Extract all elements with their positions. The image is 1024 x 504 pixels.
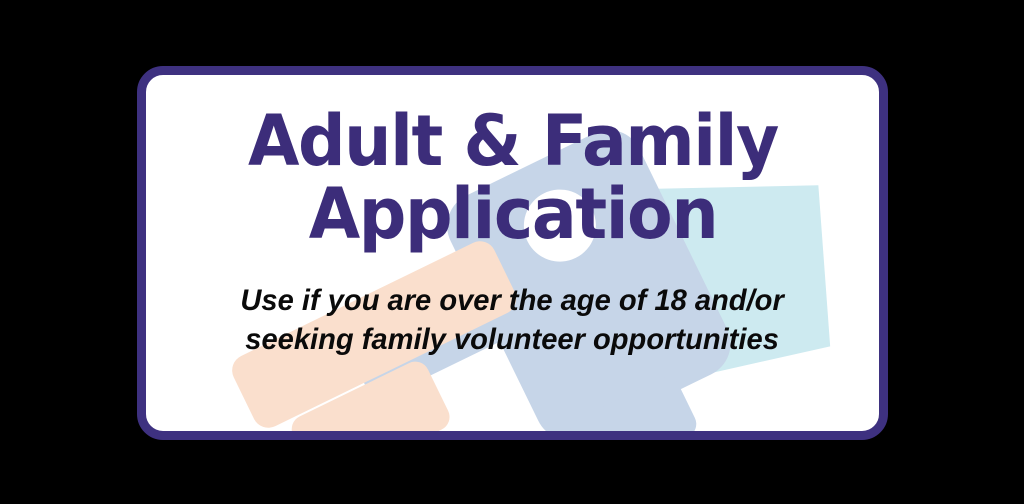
application-card[interactable]: Adult & Family Application Use if you ar…: [137, 66, 888, 440]
subtitle-line-2: seeking family volunteer opportunities: [241, 321, 784, 359]
page-title-line-2: Application: [308, 180, 717, 249]
page-canvas: Adult & Family Application Use if you ar…: [0, 0, 1024, 504]
subtitle-line-1: Use if you are over the age of 18 and/or: [241, 282, 784, 320]
card-content: Adult & Family Application Use if you ar…: [146, 75, 879, 431]
page-title-line-1: Adult & Family: [248, 107, 778, 176]
subtitle-block: Use if you are over the age of 18 and/or…: [232, 282, 792, 359]
